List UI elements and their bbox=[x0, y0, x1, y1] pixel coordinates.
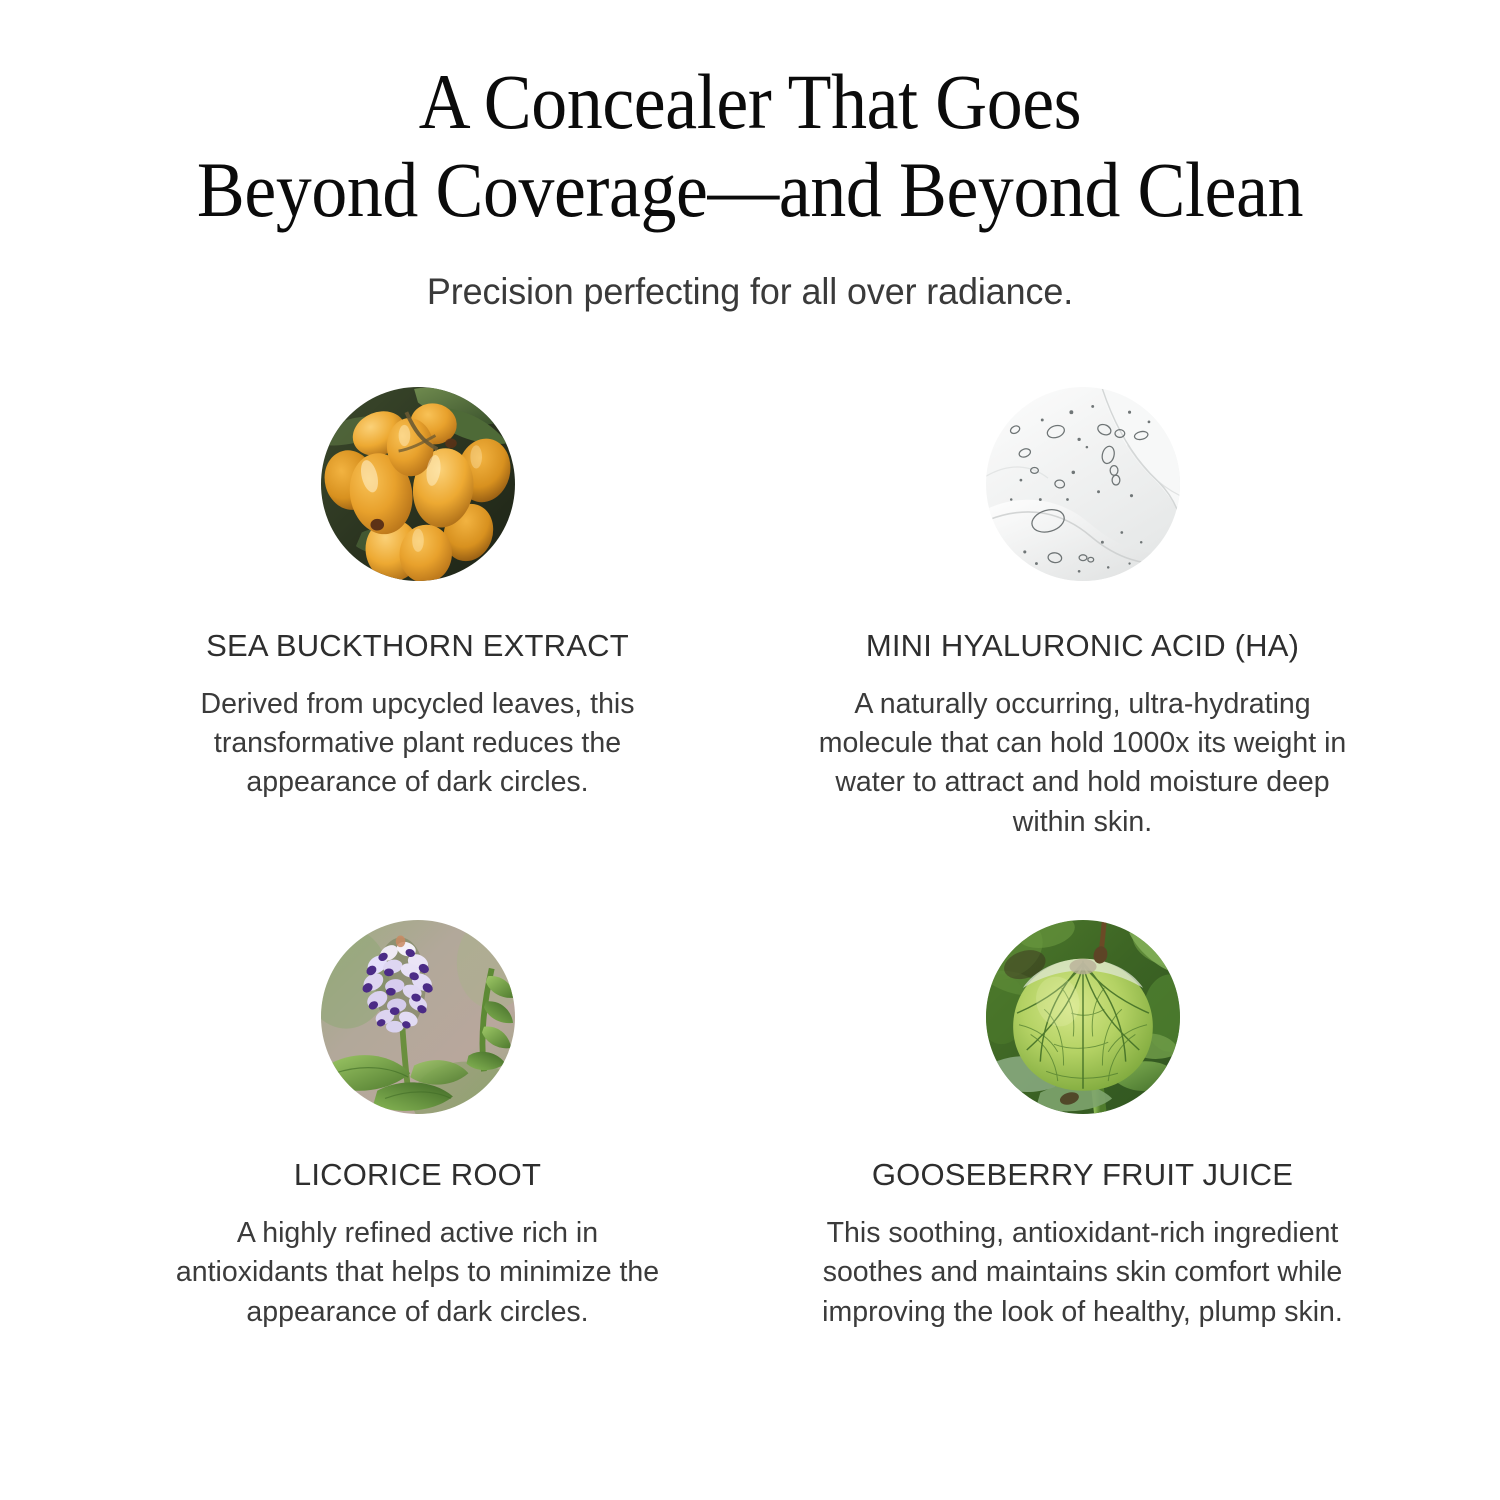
ingredient-benefits-page: A Concealer That Goes Beyond Coverage—an… bbox=[0, 0, 1500, 1500]
ingredient-card-sea-buckthorn-extract: SEA BUCKTHORN EXTRACT Derived from upcyc… bbox=[85, 387, 750, 842]
ingredient-description: A highly refined active rich in antioxid… bbox=[165, 1214, 670, 1332]
gooseberry-husk-photo bbox=[986, 920, 1180, 1114]
ingredient-card-licorice-root: LICORICE ROOT A highly refined active ri… bbox=[85, 920, 750, 1332]
ingredient-description: A naturally occurring, ultra-hydrating m… bbox=[802, 685, 1364, 842]
sea-buckthorn-berries-photo bbox=[321, 387, 515, 581]
ingredient-title: SEA BUCKTHORN EXTRACT bbox=[206, 629, 629, 663]
page-subtitle: Precision perfecting for all over radian… bbox=[100, 270, 1400, 314]
ingredients-grid: SEA BUCKTHORN EXTRACT Derived from upcyc… bbox=[85, 387, 1415, 1332]
ingredient-description: Derived from upcycled leaves, this trans… bbox=[165, 685, 670, 803]
page-title-line-2: Beyond Coverage—and Beyond Clean bbox=[134, 146, 1367, 234]
ingredient-card-mini-hyaluronic-acid: MINI HYALURONIC ACID (HA) A naturally oc… bbox=[750, 387, 1415, 842]
ingredient-card-gooseberry-fruit-juice: GOOSEBERRY FRUIT JUICE This soothing, an… bbox=[750, 920, 1415, 1332]
licorice-root-flower-photo bbox=[321, 920, 515, 1114]
page-header: A Concealer That Goes Beyond Coverage—an… bbox=[80, 58, 1420, 315]
ingredient-description: This soothing, antioxidant-rich ingredie… bbox=[802, 1214, 1364, 1332]
hyaluronic-acid-gel-photo bbox=[986, 387, 1180, 581]
page-title-line-1: A Concealer That Goes bbox=[134, 58, 1367, 146]
page-title: A Concealer That Goes Beyond Coverage—an… bbox=[134, 58, 1367, 234]
ingredient-title: LICORICE ROOT bbox=[294, 1158, 541, 1192]
ingredient-title: MINI HYALURONIC ACID (HA) bbox=[866, 629, 1299, 663]
ingredient-title: GOOSEBERRY FRUIT JUICE bbox=[872, 1158, 1293, 1192]
